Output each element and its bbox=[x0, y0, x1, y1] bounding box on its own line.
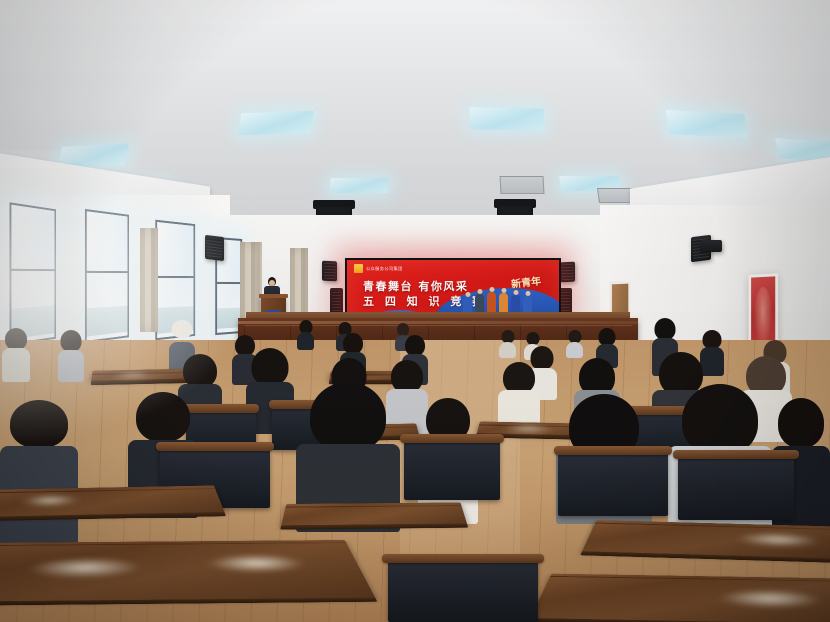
table bbox=[530, 574, 830, 622]
logo-mark-icon bbox=[354, 264, 363, 273]
audience-person bbox=[297, 320, 314, 350]
window bbox=[85, 209, 129, 343]
wall-speaker bbox=[205, 235, 224, 261]
wall-speaker bbox=[322, 261, 337, 282]
audience-person bbox=[566, 330, 583, 358]
chair bbox=[388, 560, 538, 622]
screen-headline-1: 青春舞台 有你风采 bbox=[363, 278, 468, 294]
chair bbox=[678, 456, 794, 520]
panel-light bbox=[238, 111, 313, 135]
window bbox=[10, 202, 57, 345]
table bbox=[582, 520, 830, 560]
curtain bbox=[140, 228, 158, 332]
ceiling-vent bbox=[500, 176, 545, 194]
audience-person bbox=[58, 330, 84, 382]
table bbox=[281, 502, 467, 526]
conference-hall-photo: 公众服务公司集团 青春舞台 有你风采 五 四 知 识 竞 赛 新青年 bbox=[0, 0, 830, 622]
table bbox=[0, 540, 376, 603]
panel-light bbox=[469, 107, 544, 130]
wall-speaker-ceiling-right bbox=[700, 240, 722, 252]
screen-calligraphy: 新青年 bbox=[510, 272, 542, 291]
wall-speaker bbox=[560, 262, 575, 283]
audience-person bbox=[499, 330, 516, 358]
panel-light bbox=[329, 178, 388, 193]
chair bbox=[558, 452, 668, 516]
chair bbox=[404, 440, 500, 500]
screen-logo: 公众服务公司集团 bbox=[354, 264, 403, 273]
table bbox=[0, 485, 225, 518]
panel-light bbox=[666, 110, 749, 138]
audience-person bbox=[0, 400, 78, 550]
logo-text: 公众服务公司集团 bbox=[366, 266, 403, 272]
audience-person bbox=[2, 328, 30, 382]
